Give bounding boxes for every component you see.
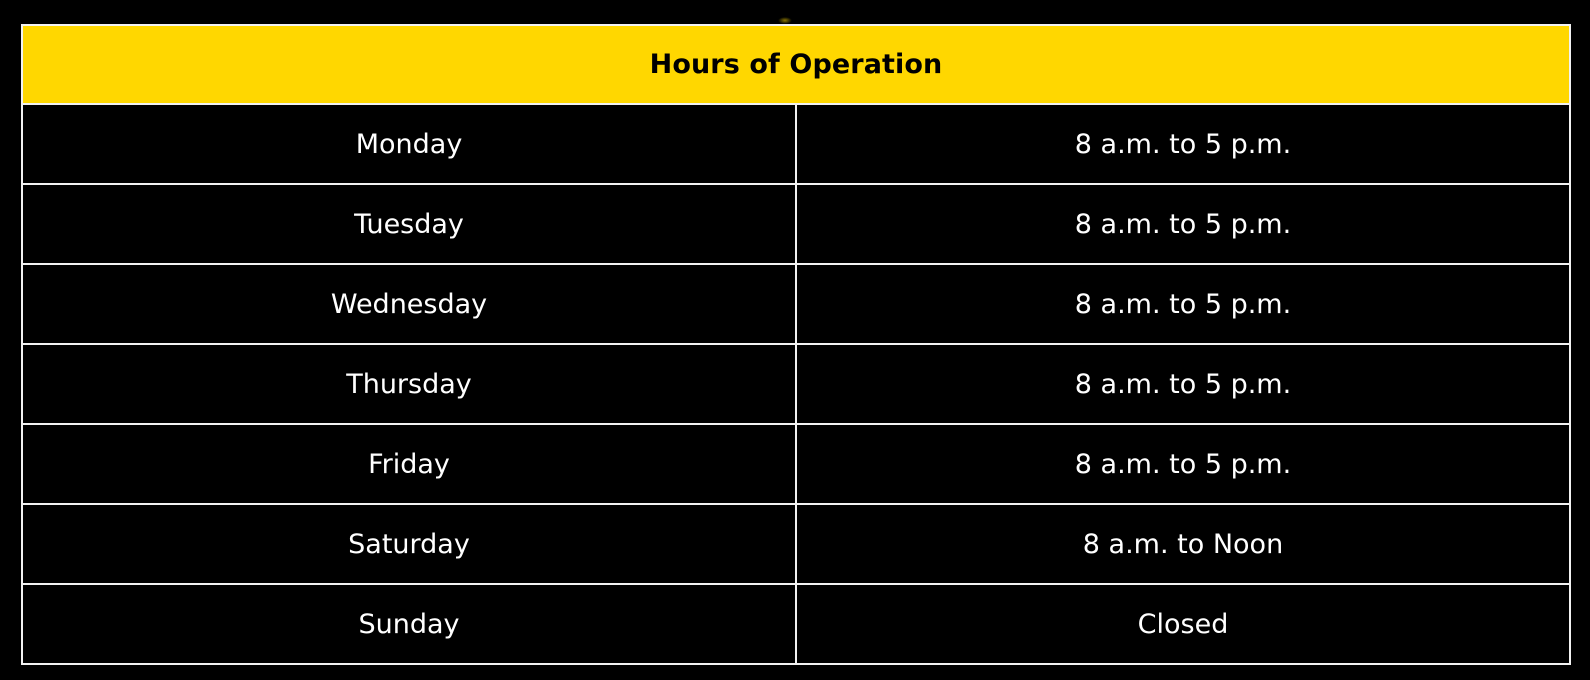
day-label-wednesday: Wednesday <box>22 264 796 344</box>
header-glow-artifact <box>778 17 792 24</box>
day-label-thursday: Thursday <box>22 344 796 424</box>
table-body: Monday 8 a.m. to 5 p.m. Tuesday 8 a.m. t… <box>22 104 1570 664</box>
table-header: Hours of Operation <box>22 25 1570 104</box>
hours-value-monday: 8 a.m. to 5 p.m. <box>796 104 1570 184</box>
day-label-tuesday: Tuesday <box>22 184 796 264</box>
table-row: Thursday 8 a.m. to 5 p.m. <box>22 344 1570 424</box>
day-label-saturday: Saturday <box>22 504 796 584</box>
hours-of-operation-table: Hours of Operation Monday 8 a.m. to 5 p.… <box>21 24 1571 665</box>
page-canvas: Hours of Operation Monday 8 a.m. to 5 p.… <box>0 0 1590 680</box>
day-label-monday: Monday <box>22 104 796 184</box>
table-row: Sunday Closed <box>22 584 1570 664</box>
hours-value-thursday: 8 a.m. to 5 p.m. <box>796 344 1570 424</box>
table-row: Monday 8 a.m. to 5 p.m. <box>22 104 1570 184</box>
table-row: Friday 8 a.m. to 5 p.m. <box>22 424 1570 504</box>
table-title-row: Hours of Operation <box>22 25 1570 104</box>
hours-value-wednesday: 8 a.m. to 5 p.m. <box>796 264 1570 344</box>
day-label-sunday: Sunday <box>22 584 796 664</box>
hours-value-tuesday: 8 a.m. to 5 p.m. <box>796 184 1570 264</box>
table-row: Tuesday 8 a.m. to 5 p.m. <box>22 184 1570 264</box>
hours-value-friday: 8 a.m. to 5 p.m. <box>796 424 1570 504</box>
hours-value-sunday: Closed <box>796 584 1570 664</box>
hours-value-saturday: 8 a.m. to Noon <box>796 504 1570 584</box>
day-label-friday: Friday <box>22 424 796 504</box>
table-row: Wednesday 8 a.m. to 5 p.m. <box>22 264 1570 344</box>
table-title: Hours of Operation <box>22 25 1570 104</box>
table-row: Saturday 8 a.m. to Noon <box>22 504 1570 584</box>
